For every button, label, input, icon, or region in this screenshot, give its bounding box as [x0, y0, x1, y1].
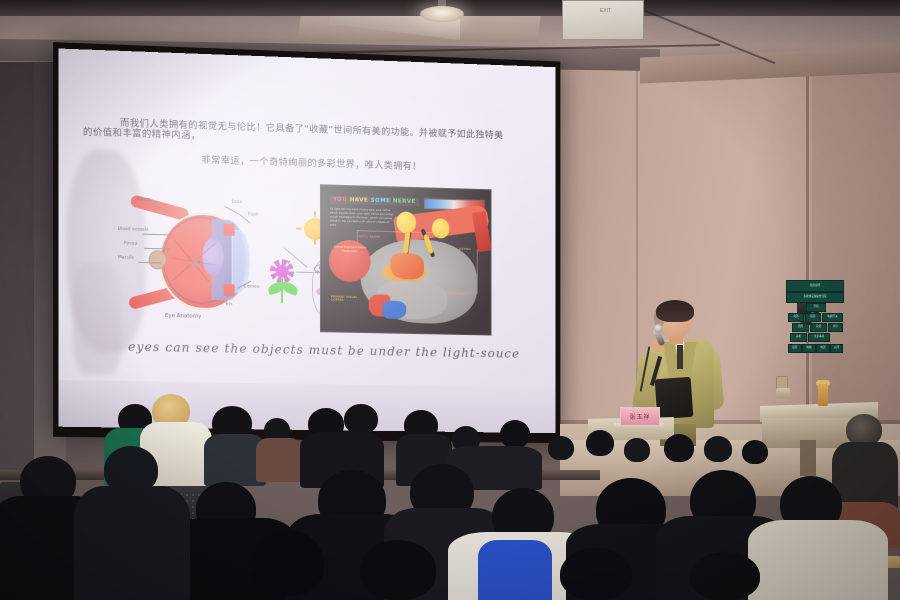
audience-head: [586, 430, 614, 456]
ceiling-equipment-box: [562, 0, 644, 40]
projection-screen: 而我们人类拥有的视觉无与伦比！它具备了“收藏”世间所有美的功能。并被赋予如此独特…: [58, 48, 555, 433]
audience-body-front: [748, 520, 888, 600]
audience-body: [256, 438, 302, 482]
sun-ray: [314, 211, 316, 217]
sign-row: 电脑开关: [822, 313, 843, 322]
iris-upper: [224, 224, 235, 236]
presenter-tie: [677, 345, 683, 369]
sign-row: 话筒: [792, 323, 809, 332]
slide-text-line-2: 的价值和丰富的精神内涵，: [83, 124, 200, 142]
poster-body-text: As light hits the back of your eye, your…: [330, 208, 395, 229]
sign-row: 电脑: [802, 344, 816, 353]
ceiling-box-label: EXIT: [600, 8, 611, 14]
poster-label-optic-tract: OPTIC TRACT: [448, 292, 469, 296]
microphone-head: [654, 324, 663, 333]
audience-head: [500, 420, 530, 448]
audience-head: [664, 434, 694, 462]
eye-label-iris: Iris: [226, 302, 233, 307]
eye-label-lens: Lens: [232, 200, 242, 205]
flower-leaf-right: [281, 281, 299, 295]
eye-label-blood-vessels: Blood vessels: [118, 227, 149, 233]
sign-row: 多媒体设备操作流程: [786, 292, 844, 303]
sign-row: 投影: [805, 313, 821, 322]
visual-cortex-blue-shape: [383, 301, 407, 319]
slide: 而我们人类拥有的视觉无与伦比！它具备了“收藏”世间所有美的功能。并被赋予如此独特…: [58, 48, 555, 433]
audience-head: [624, 438, 650, 462]
poster-label-retina: RETINA: [459, 247, 471, 251]
retina-bulb-left: [396, 211, 416, 233]
iris-lower: [224, 284, 235, 296]
audience-head-front: [360, 540, 436, 600]
poster-label-primary-visual-cortex: PRIMARY VISUAL CORTEX: [331, 295, 367, 302]
audience-head: [548, 436, 574, 460]
optic-chiasm-shape: [390, 253, 424, 280]
sign-row: 使用说明: [786, 280, 844, 292]
poster-title-word-4: NERVE: [393, 198, 416, 205]
brain-optic-poster: YOU HAVE SOME NERVE As light hits the ba…: [320, 184, 492, 335]
slide-text-line-3: 非常幸运，一个奇特绚丽的多彩世界，唯人类拥有！: [201, 152, 421, 173]
sign-row: 关机: [790, 333, 807, 342]
eye-label-retina: Retina: [136, 197, 150, 202]
audience-area: [0, 390, 900, 600]
eye-label-pupil: Pupil: [248, 212, 259, 217]
poster-label-optic-nerve: OPTIC NERVE: [359, 234, 380, 239]
optic-nerve-head: [149, 250, 167, 270]
poster-label-optic-chiasm: OPTIC CHIASM: [416, 234, 439, 239]
sign-row: 开机: [806, 303, 826, 312]
poster-title-word-2: HAVE: [350, 197, 368, 204]
leader-line: [224, 206, 239, 215]
poster-red-banner-end: [472, 211, 492, 252]
ceiling-light-icon: [420, 6, 464, 22]
sun-ray: [296, 228, 302, 230]
eye-anatomy-diagram: Retina Blood vessels Fovea Macula Lens P…: [118, 193, 280, 326]
slide-handwritten-caption: eyes can see the objects must be under t…: [128, 340, 520, 361]
audience-body-front: [74, 486, 190, 600]
sign-row: 电源: [816, 344, 830, 353]
audience-head: [344, 404, 378, 434]
audience-head: [704, 436, 732, 462]
leader-line: [144, 248, 170, 249]
leader-line: [142, 234, 168, 235]
eye-diagram-caption: Eye Anatomy: [165, 313, 201, 320]
audience-head: [742, 440, 768, 464]
wall-instruction-sign: 使用说明 多媒体设备操作流程 开机 电源 投影 电脑开关 话筒 音量 调节 关机…: [786, 280, 842, 360]
eye-label-cornea: Cornea: [244, 284, 260, 289]
eye-label-fovea: Fovea: [124, 241, 137, 246]
audience-head-front: [250, 530, 324, 596]
sun-ray: [314, 239, 316, 245]
lecture-hall-photo: EXIT 而我们人类拥有的视觉无与伦比！它具备了“收藏”世间所有美的功能。并被赋…: [0, 0, 900, 600]
poster-title-word-1: YOU: [333, 197, 347, 203]
audience-head-front: [560, 548, 632, 600]
sign-row: 音量: [810, 323, 827, 332]
audience-body-front: [478, 540, 552, 600]
sign-row: 投影: [788, 344, 802, 353]
sign-row: 关闭: [830, 344, 843, 353]
poster-circle-text: Cornea Pupil Lens Retina Fovea Optic: [333, 246, 367, 256]
poster-title-word-3: SOME: [371, 198, 391, 205]
audience-head-front: [690, 552, 760, 600]
poster-title: YOU HAVE SOME NERVE: [330, 196, 419, 206]
sign-row: 调节: [828, 323, 843, 332]
eye-label-macula: Macula: [118, 255, 134, 260]
sign-row: 注意事项: [808, 333, 830, 342]
sign-row: 电源: [788, 313, 804, 322]
fovea-shape: [189, 257, 201, 269]
